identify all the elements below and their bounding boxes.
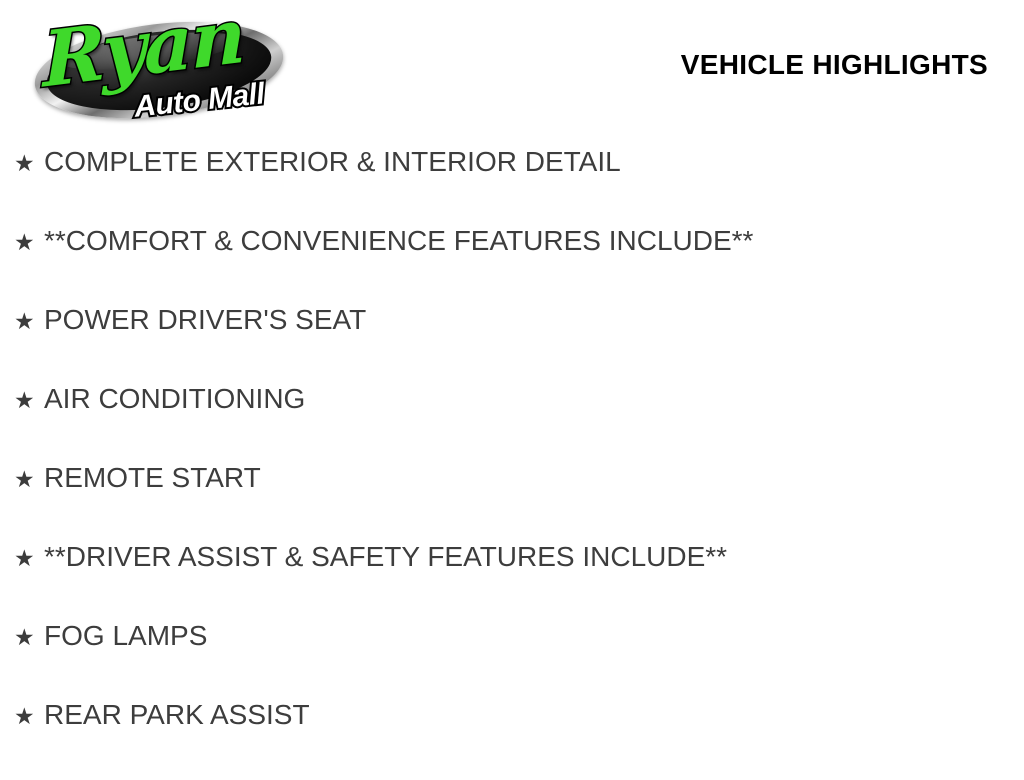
- list-item: ★ **COMFORT & CONVENIENCE FEATURES INCLU…: [0, 227, 1024, 306]
- star-icon: ★: [14, 389, 44, 412]
- page-header: Ryan Auto Mall VEHICLE HIGHLIGHTS: [0, 0, 1024, 132]
- star-icon: ★: [14, 705, 44, 728]
- highlight-label: REMOTE START: [44, 464, 261, 492]
- star-icon: ★: [14, 152, 44, 175]
- star-icon: ★: [14, 310, 44, 333]
- highlight-label: FOG LAMPS: [44, 622, 207, 650]
- list-item: ★ **DRIVER ASSIST & SAFETY FEATURES INCL…: [0, 543, 1024, 622]
- list-item: ★ REMOTE START: [0, 464, 1024, 543]
- highlight-label: **DRIVER ASSIST & SAFETY FEATURES INCLUD…: [44, 543, 727, 571]
- vehicle-highlights-page: { "header": { "title": "VEHICLE HIGHLIGH…: [0, 0, 1024, 768]
- star-icon: ★: [14, 468, 44, 491]
- list-item: ★ AIR CONDITIONING: [0, 385, 1024, 464]
- list-item: ★ FOG LAMPS: [0, 622, 1024, 701]
- list-item: ★ COMPLETE EXTERIOR & INTERIOR DETAIL: [0, 148, 1024, 227]
- highlight-label: POWER DRIVER'S SEAT: [44, 306, 366, 334]
- highlight-label: AIR CONDITIONING: [44, 385, 305, 413]
- highlight-label: **COMFORT & CONVENIENCE FEATURES INCLUDE…: [44, 227, 753, 255]
- list-item: ★ POWER DRIVER'S SEAT: [0, 306, 1024, 385]
- vehicle-highlights-list: ★ COMPLETE EXTERIOR & INTERIOR DETAIL ★ …: [0, 148, 1024, 780]
- highlight-label: REAR PARK ASSIST: [44, 701, 310, 729]
- page-title: VEHICLE HIGHLIGHTS: [681, 50, 988, 81]
- dealer-logo[interactable]: Ryan Auto Mall: [16, 8, 294, 124]
- star-icon: ★: [14, 547, 44, 570]
- highlight-label: COMPLETE EXTERIOR & INTERIOR DETAIL: [44, 148, 621, 176]
- star-icon: ★: [14, 626, 44, 649]
- list-item: ★ REAR PARK ASSIST: [0, 701, 1024, 780]
- star-icon: ★: [14, 231, 44, 254]
